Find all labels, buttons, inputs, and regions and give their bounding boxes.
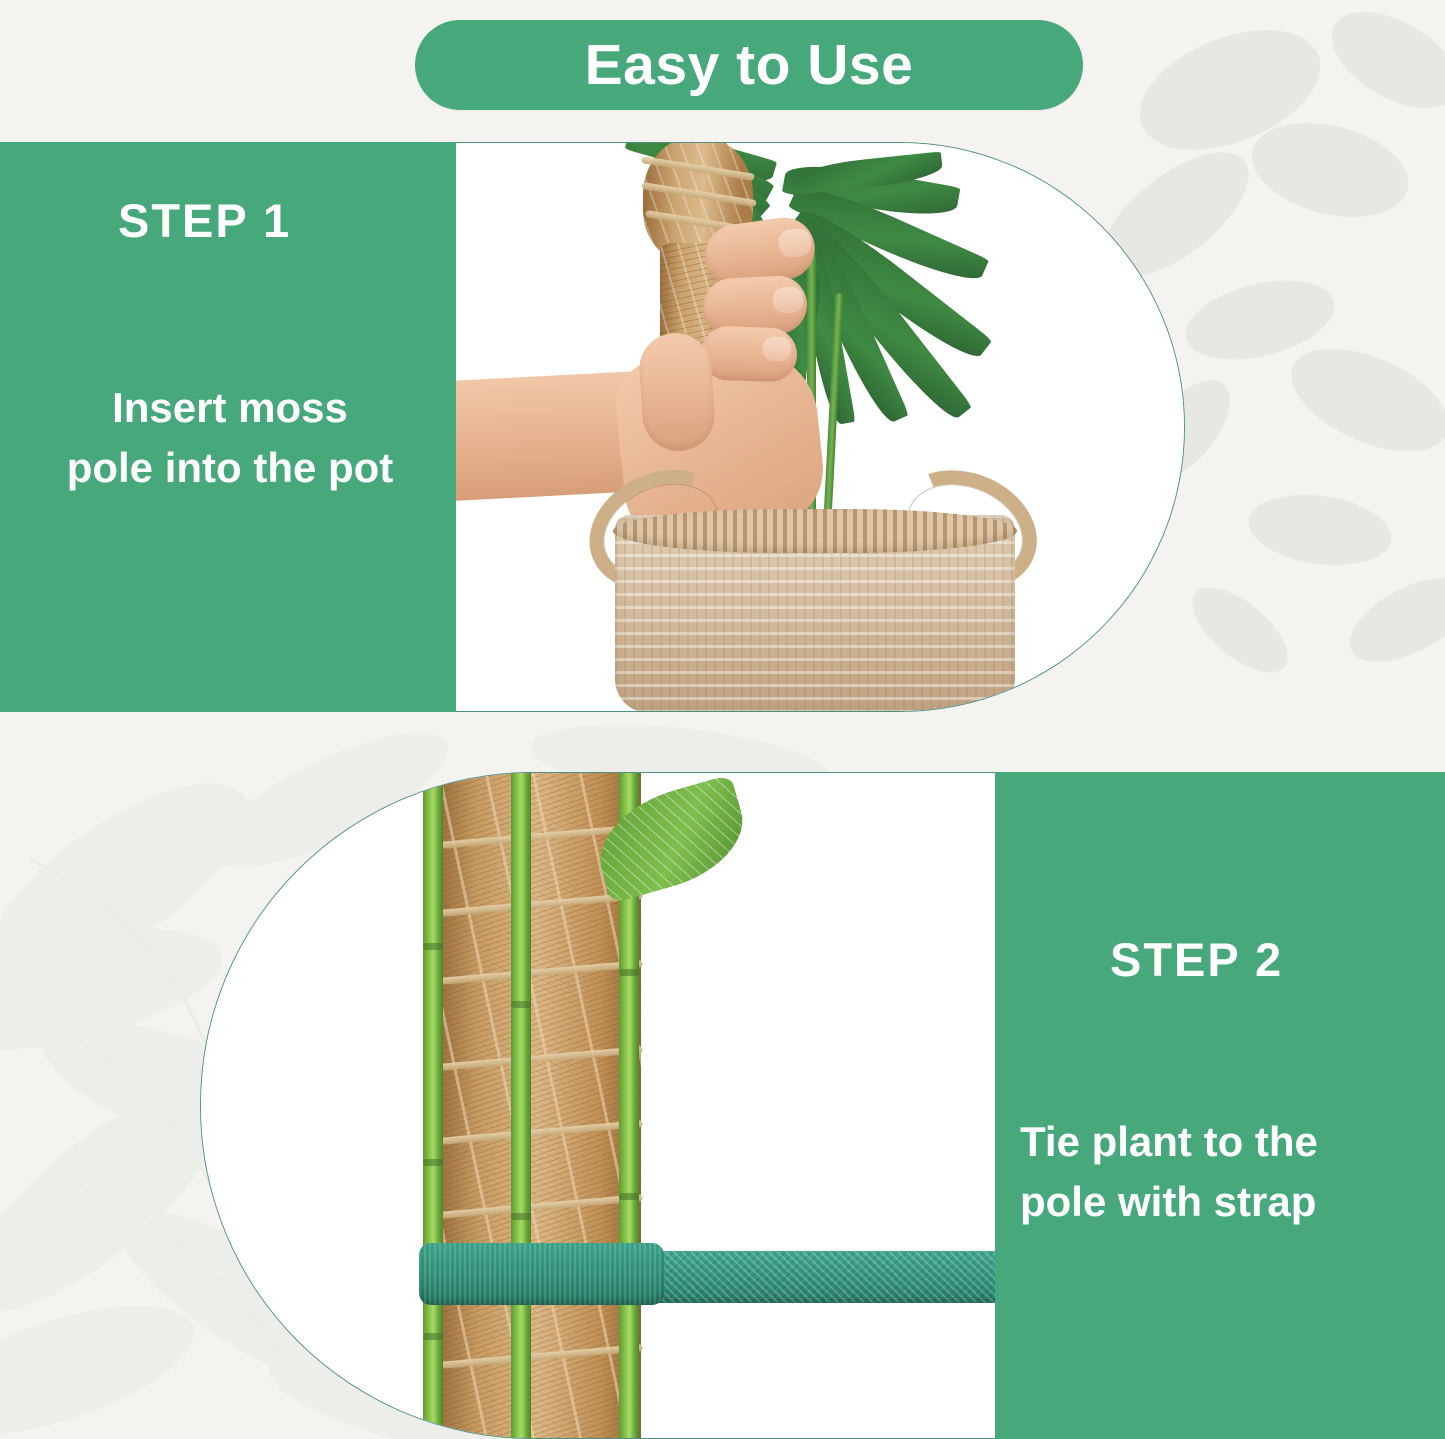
step-2-body-line-2: pole with strap bbox=[1020, 1172, 1430, 1232]
plant-stem bbox=[511, 772, 531, 1439]
step-2-text-pane bbox=[995, 772, 1445, 1439]
step-1-photo bbox=[455, 142, 1185, 712]
stem-node bbox=[511, 1213, 531, 1220]
infographic-canvas: Easy to Use bbox=[0, 0, 1445, 1439]
plant-strap-loop bbox=[419, 1243, 664, 1305]
page-title-pill: Easy to Use bbox=[415, 20, 1083, 110]
step-1-body-line-1: Insert moss bbox=[10, 378, 450, 438]
hand-thumb bbox=[637, 331, 717, 454]
stem-node bbox=[423, 943, 443, 950]
stem-node bbox=[511, 1001, 531, 1008]
fingernail bbox=[763, 337, 792, 362]
page-title: Easy to Use bbox=[585, 37, 914, 94]
step-1-photo-artwork bbox=[455, 143, 1184, 711]
step-1-body: Insert moss pole into the pot bbox=[10, 378, 450, 497]
stem-node bbox=[423, 1159, 443, 1166]
step-2-photo bbox=[200, 772, 1000, 1439]
step-1-label: STEP 1 bbox=[118, 197, 291, 244]
fingernail bbox=[772, 286, 803, 314]
step-2-panel bbox=[200, 772, 1445, 1439]
plant-strap-tail bbox=[656, 1251, 1000, 1303]
stem-node bbox=[423, 1333, 443, 1340]
basket-rim bbox=[613, 509, 1017, 553]
step-2-label: STEP 2 bbox=[1110, 936, 1283, 983]
stem-node bbox=[619, 969, 639, 976]
step-2-body-line-1: Tie plant to the bbox=[1020, 1112, 1430, 1172]
step-2-photo-artwork bbox=[201, 773, 1000, 1438]
stem-node bbox=[619, 1193, 639, 1200]
step-2-body: Tie plant to the pole with strap bbox=[1020, 1112, 1430, 1231]
step-1-body-line-2: pole into the pot bbox=[10, 438, 450, 498]
